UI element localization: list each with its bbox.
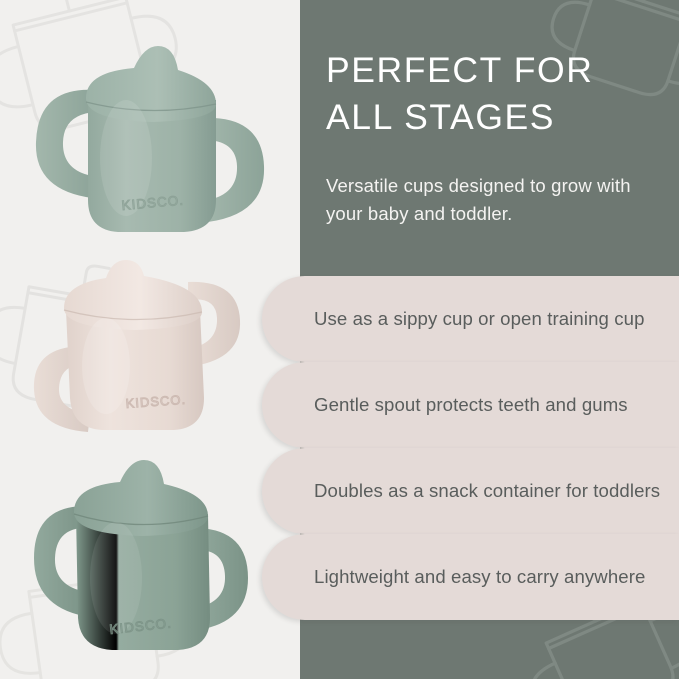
cup-handle-left	[36, 90, 96, 198]
feature-pill-label: Gentle spout protects teeth and gums	[314, 392, 666, 418]
product-image-sippy-cup-sage-light: KIDSCO.	[26, 38, 272, 246]
panel-subtitle: Versatile cups designed to grow with you…	[326, 172, 646, 227]
feature-pill-snack-container[interactable]: Doubles as a snack container for toddler…	[262, 448, 679, 534]
feature-pill-label: Lightweight and easy to carry anywhere	[314, 564, 666, 590]
feature-pill-sippy-or-training-cup[interactable]: Use as a sippy cup or open training cup	[262, 276, 679, 362]
panel-title: PERFECT FOR ALL STAGES	[326, 47, 666, 141]
product-photo-column: KIDSCO.	[0, 0, 300, 679]
product-image-sippy-cup-sage-deep: KIDSCO.	[20, 458, 272, 670]
panel-title-line-2: ALL STAGES	[326, 94, 666, 141]
feature-pill-label: Use as a sippy cup or open training cup	[314, 306, 666, 332]
infographic-root: KIDSCO.	[0, 0, 679, 679]
feature-pill-gentle-spout[interactable]: Gentle spout protects teeth and gums	[262, 362, 679, 448]
feature-pill-lightweight-portable[interactable]: Lightweight and easy to carry anywhere	[262, 534, 679, 620]
panel-title-line-1: PERFECT FOR	[326, 47, 666, 94]
product-image-sippy-cup-blush: KIDSCO.	[14, 258, 264, 438]
feature-pill-label: Doubles as a snack container for toddler…	[314, 478, 666, 504]
